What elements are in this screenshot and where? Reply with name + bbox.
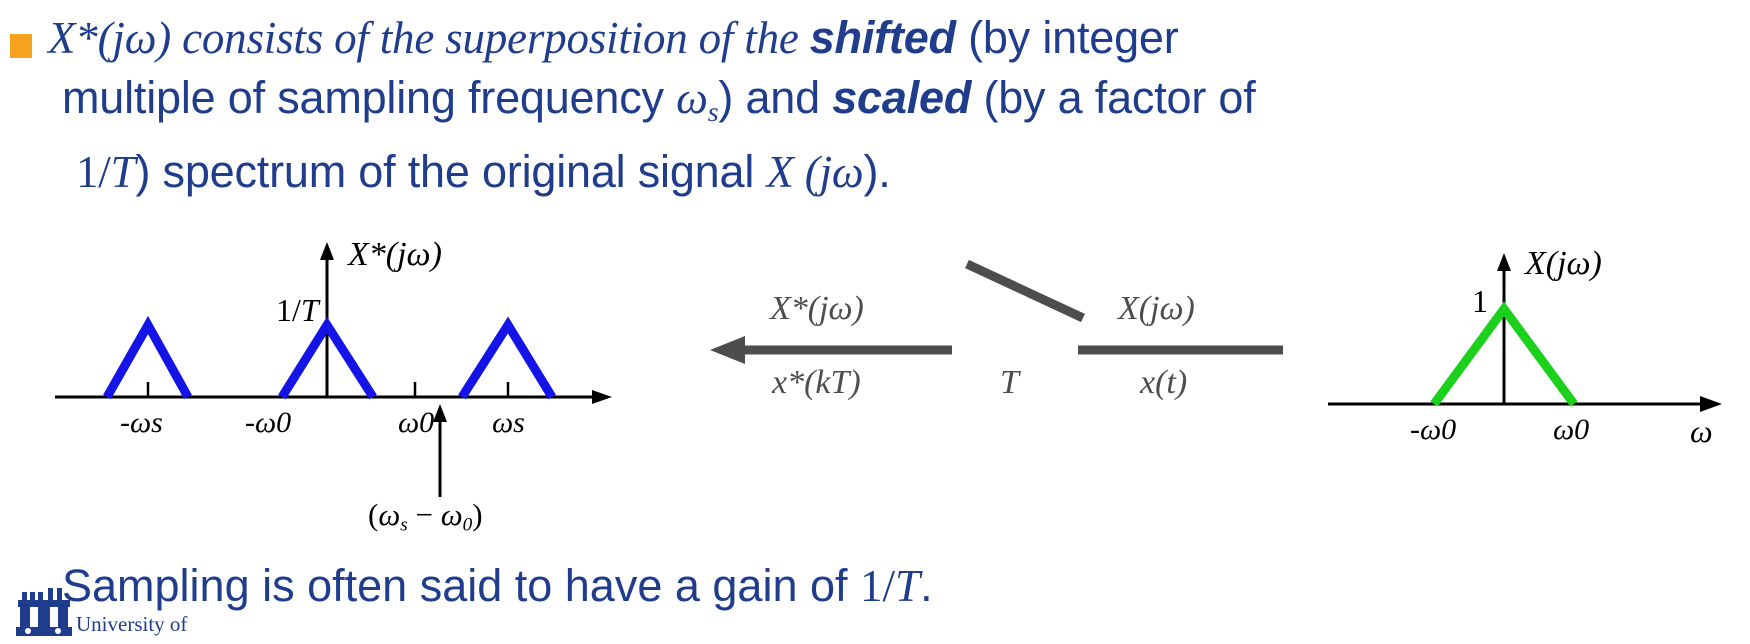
right-arrow-bottom-text: x(t) [1140,364,1187,401]
right-xaxis-text: ω [1690,413,1713,449]
left-chart-tick-label-w0: ω0 [398,406,434,440]
bullet-line-2: multiple of sampling frequency ωs) and s… [48,68,1708,142]
right-arrow-top-label: X(jω) [1118,290,1195,328]
tick-neg-ws-text: -ωs [120,406,163,439]
bullet-l1-bold: shifted [810,12,956,63]
left-axis-label-omega: ω [407,236,431,273]
right-peak-text: 1 [1472,283,1488,319]
closing-text-T: T [895,561,920,611]
annot-omega-0: ω [441,497,463,532]
left-peak-T: T [301,292,319,328]
bullet-l2-mid: ) and [718,72,832,123]
left-chart-tick-label-neg-w0: -ω0 [245,406,291,440]
left-chart-axis-label: X*(jω) [348,236,442,274]
annot-omega-s: ω [378,497,400,532]
left-axis-label-X: X*( [348,236,397,273]
tick-ws-text: ωs [492,406,525,439]
right-chart-axis-label: X(jω) [1525,245,1602,283]
right-chart-tick-label-w0: ω0 [1553,413,1589,447]
left-arrow-bottom-label: x*(kT) [772,364,861,402]
right-chart-tick-label-neg-w0: -ω0 [1410,413,1456,447]
closing-text-period: . [920,560,933,611]
university-crest-logo [14,582,74,644]
right-arrow-top-text: X(jω) [1118,290,1195,327]
bullet-line-1: X*(jω) consists of the superposition of … [48,8,1708,68]
left-chart-traces [107,325,552,397]
left-axis-label-close: ) [431,236,442,273]
bullet-l2-sub: s [708,97,719,128]
bullet-l2-omega: ω [676,73,708,123]
right-arrow-bottom-label: x(t) [1140,364,1187,402]
right-chart-xaxis-label: ω [1690,413,1713,450]
right-chart-peak-label: 1 [1472,283,1488,320]
bullet-l3-mid: ) spectrum of the original signal [135,146,766,197]
annot-close: ) [472,497,482,532]
bullet-l1-paren: ) consists of the superposition of the [156,13,809,63]
annot-minus: − [408,497,441,532]
switch-period-label: T [1000,364,1019,402]
bullet-l3-T: T [111,147,136,197]
bullet-l1-omega: ω [125,13,157,63]
left-chart-annotation-arrow [433,404,447,497]
figure-vector-graphics [0,232,1750,552]
left-axis-label-j: j [397,236,406,273]
left-chart-axes [55,242,612,404]
bullet-l3-num: 1/ [76,147,111,197]
annot-sub-s: s [400,514,407,535]
bullet-l2-head: multiple of sampling frequency [62,72,676,123]
bullet-text: X*(jω) consists of the superposition of … [48,8,1708,202]
left-peak-num: 1/ [276,292,301,328]
bullet-l2-tail: (by a factor of [971,72,1255,123]
bullet-line-3: 1/T) spectrum of the original signal X (… [48,142,1708,202]
bullet-l1-math: X*(j [48,13,125,63]
bullet-marker-icon [10,34,32,58]
right-axis-label-text: X(jω) [1525,245,1602,282]
sampling-spectrum-figure: X*(jω) 1/T -ωs -ω0 ω0 ωs (ωs − ω0) X*(jω… [0,232,1750,552]
left-chart-annotation-label: (ωs − ω0) [368,497,483,536]
middle-left-arrow [710,336,952,364]
annot-sub-0: 0 [463,514,473,535]
closing-text-fraction: 1/ [860,561,895,611]
left-chart-peak-label: 1/T [276,292,319,329]
right-tick-w0-text: ω0 [1553,413,1589,446]
bullet-l3-end: ). [863,146,890,197]
left-arrow-bottom-text: x*(kT) [772,364,861,401]
closing-statement: Sampling is often said to have a gain of… [62,560,933,612]
bullet-l3-omega: ω [832,147,864,197]
left-chart-tick-label-ws: ωs [492,406,525,440]
bullet-l1-tail: (by integer [956,12,1179,63]
bullet-l3-X: X [766,147,793,197]
closing-text-head: Sampling is often said to have a gain of [62,560,860,611]
left-arrow-top-label: X*(jω) [770,290,864,328]
logo-caption: University of [76,612,187,637]
switch-period-text: T [1000,364,1019,401]
annot-open: ( [368,497,378,532]
middle-switch-lever [967,264,1083,318]
left-chart-tick-label-neg-ws: -ωs [120,406,163,440]
left-arrow-top-text: X*(jω) [770,290,864,327]
tick-neg-w0-text: -ω0 [245,406,291,439]
bullet-l3-jopen: (j [794,147,832,197]
bullet-l2-bold: scaled [832,72,971,123]
tick-w0-text: ω0 [398,406,434,439]
right-tick-neg-w0-text: -ω0 [1410,413,1456,446]
